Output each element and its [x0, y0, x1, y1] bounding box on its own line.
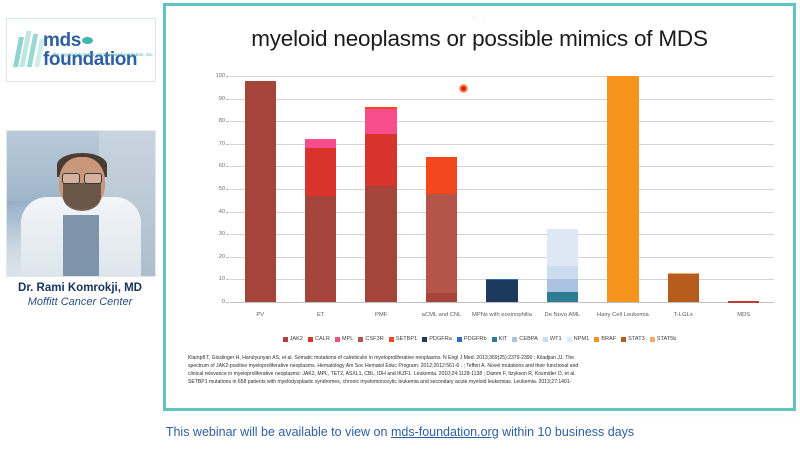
- x-axis-label: T-LGLs: [653, 312, 713, 319]
- stacked-bar[interactable]: [668, 221, 699, 302]
- left-rail: mdsfoundation the myelodysplastic syndro…: [0, 0, 160, 450]
- footer-suffix: within 10 business days: [499, 425, 635, 439]
- stacked-bar[interactable]: [607, 76, 638, 302]
- legend-swatch: [621, 337, 626, 342]
- mds-foundation-logo: mdsfoundation the myelodysplastic syndro…: [6, 18, 156, 82]
- y-axis-tick-label: 70: [219, 141, 225, 147]
- bar-segment-jak2[interactable]: [365, 186, 396, 302]
- x-axis-label: De Novo AML: [532, 312, 592, 319]
- bar-segment-cebpa[interactable]: [547, 279, 578, 292]
- reference-line: clinical relevance in myeloproliferative…: [188, 370, 779, 378]
- slide-title: myeloid neoplasms or possible mimics of …: [166, 26, 793, 52]
- photo-beard: [63, 183, 101, 211]
- y-axis-tick: [226, 76, 229, 77]
- bar-group[interactable]: [351, 76, 411, 302]
- bar-segment-stat3[interactable]: [668, 274, 699, 302]
- legend-label: BRAF: [601, 336, 616, 342]
- chart-bars: [230, 76, 774, 302]
- reference-citations: Klampfl T, Gisslinger H, Harutyunyan AS,…: [188, 354, 779, 386]
- reference-line: Klampfl T, Gisslinger H, Harutyunyan AS,…: [188, 354, 779, 362]
- legend-swatch: [567, 337, 572, 342]
- stacked-bar[interactable]: [547, 173, 578, 302]
- bar-segment-wt1[interactable]: [547, 266, 578, 279]
- legend-item-setbp1[interactable]: SETBP1: [389, 336, 417, 342]
- bar-group[interactable]: [593, 76, 653, 302]
- chart-legend: JAK2CALRMPLCSF3RSETBP1PDGFRaPDGFRbKITCEB…: [166, 336, 793, 342]
- bar-group[interactable]: [411, 76, 471, 302]
- bar-group[interactable]: [230, 76, 290, 302]
- legend-label: CALR: [315, 336, 330, 342]
- bar-segment-jak2[interactable]: [245, 81, 276, 302]
- legend-label: SETBP1: [396, 336, 417, 342]
- y-axis-tick: [226, 257, 229, 258]
- legend-swatch: [512, 337, 517, 342]
- x-axis-label: Hairy Cell Leukemia: [593, 312, 653, 319]
- footer-link[interactable]: mds-foundation.org: [391, 425, 499, 439]
- legend-label: MPL: [342, 336, 354, 342]
- legend-swatch: [389, 337, 394, 342]
- legend-label: JAK2: [290, 336, 303, 342]
- mutation-frequency-chart: 0102030405060708090100 PVETPMFaCML and C…: [200, 68, 778, 318]
- legend-swatch: [457, 337, 462, 342]
- slide-title-overflow: - .: [166, 12, 793, 22]
- legend-label: CEBPA: [519, 336, 538, 342]
- legend-item-mpl[interactable]: MPL: [335, 336, 354, 342]
- y-axis-tick: [226, 234, 229, 235]
- logo-tagline: the myelodysplastic syndromes foundation…: [53, 52, 154, 57]
- stacked-bar[interactable]: [426, 121, 457, 302]
- stacked-bar[interactable]: [365, 92, 396, 302]
- photo-glasses-icon: [62, 173, 102, 182]
- y-axis-tick-label: 60: [219, 163, 225, 169]
- legend-label: PDGFRb: [464, 336, 487, 342]
- y-axis-tick: [226, 166, 229, 167]
- y-axis-tick: [226, 121, 229, 122]
- y-axis-tick-label: 40: [219, 209, 225, 215]
- stacked-bar[interactable]: [486, 230, 517, 302]
- x-axis-label: MPNs with eosinophilia: [472, 312, 532, 319]
- y-axis-tick: [226, 99, 229, 100]
- bar-segment-csf3r[interactable]: [426, 194, 457, 293]
- slide-screenshot: mdsfoundation the myelodysplastic syndro…: [0, 0, 800, 450]
- legend-swatch: [358, 337, 363, 342]
- bar-segment-kit[interactable]: [547, 292, 578, 302]
- bar-segment-npm1[interactable]: [547, 229, 578, 266]
- chart-plot-area: 0102030405060708090100: [230, 76, 774, 302]
- x-axis-label: PMF: [351, 312, 411, 319]
- bar-group[interactable]: [653, 76, 713, 302]
- legend-item-calr[interactable]: CALR: [308, 336, 330, 342]
- reference-line: spectrum of JAK2-positive myeloprolifera…: [188, 362, 779, 370]
- logo-word-mds: mds: [43, 30, 81, 51]
- y-axis-tick-label: 90: [219, 96, 225, 102]
- stacked-bar[interactable]: [728, 287, 759, 302]
- y-axis-tick-label: 100: [216, 73, 225, 79]
- legend-item-braf[interactable]: BRAF: [594, 336, 616, 342]
- legend-swatch: [335, 337, 340, 342]
- presentation-slide: - . myeloid neoplasms or possible mimics…: [163, 3, 796, 411]
- legend-item-jak2[interactable]: JAK2: [283, 336, 303, 342]
- speaker-affiliation: Moffitt Cancer Center: [0, 296, 160, 308]
- logo-bars-icon: [15, 31, 45, 67]
- legend-swatch: [650, 337, 655, 342]
- legend-item-npm1[interactable]: NPM1: [567, 336, 590, 342]
- legend-item-wt1[interactable]: WT1: [543, 336, 562, 342]
- y-axis-tick-label: 30: [219, 231, 225, 237]
- bar-segment-mpl[interactable]: [365, 109, 396, 134]
- x-axis-label: ET: [290, 312, 350, 319]
- bar-group[interactable]: [472, 76, 532, 302]
- legend-label: CSF3R: [365, 336, 383, 342]
- legend-label: STAT3: [628, 336, 645, 342]
- bar-segment-calr[interactable]: [305, 148, 336, 196]
- logo-dot-icon: [82, 37, 93, 44]
- bar-group[interactable]: [714, 76, 774, 302]
- legend-label: KIT: [499, 336, 508, 342]
- y-axis-tick-label: 20: [219, 254, 225, 260]
- y-axis-tick: [226, 279, 229, 280]
- legend-label: STAT5b: [657, 336, 677, 342]
- stacked-bar[interactable]: [305, 110, 336, 302]
- legend-swatch: [283, 337, 288, 342]
- bar-group[interactable]: [532, 76, 592, 302]
- bar-segment-jak2[interactable]: [305, 196, 336, 302]
- legend-swatch: [308, 337, 313, 342]
- bar-segment-braf[interactable]: [607, 76, 638, 302]
- legend-item-kit[interactable]: KIT: [492, 336, 508, 342]
- legend-swatch: [422, 337, 427, 342]
- footer-message: This webinar will be available to view o…: [0, 425, 800, 439]
- y-axis-tick-label: 0: [222, 299, 225, 305]
- legend-item-csf3r[interactable]: CSF3R: [358, 336, 383, 342]
- y-axis-tick: [226, 144, 229, 145]
- bar-segment-calr[interactable]: [365, 134, 396, 187]
- gridline: [230, 302, 774, 303]
- y-axis-tick: [226, 189, 229, 190]
- logo-wordmark: mdsfoundation: [43, 31, 149, 69]
- y-axis-tick-label: 50: [219, 186, 225, 192]
- legend-item-pdgfrb[interactable]: PDGFRb: [457, 336, 487, 342]
- stacked-bar[interactable]: [245, 78, 276, 302]
- photo-shirt: [63, 215, 99, 276]
- bar-group[interactable]: [290, 76, 350, 302]
- x-axis-label: PV: [230, 312, 290, 319]
- footer-prefix: This webinar will be available to view o…: [166, 425, 391, 439]
- y-axis-tick-label: 80: [219, 118, 225, 124]
- x-axis-label: aCML and CNL: [411, 312, 471, 319]
- legend-swatch: [543, 337, 548, 342]
- bar-segment-pdgfra[interactable]: [486, 280, 517, 302]
- legend-item-pdgfra[interactable]: PDGFRa: [422, 336, 452, 342]
- y-axis-tick-label: 10: [219, 276, 225, 282]
- legend-item-stat3[interactable]: STAT3: [621, 336, 645, 342]
- speaker-video-thumbnail: [6, 130, 156, 277]
- legend-item-cebpa[interactable]: CEBPA: [512, 336, 538, 342]
- legend-label: PDGFRa: [429, 336, 452, 342]
- chart-x-axis-labels: PVETPMFaCML and CNLMPNs with eosinophili…: [230, 312, 774, 319]
- legend-label: WT1: [550, 336, 562, 342]
- y-axis-tick: [226, 302, 229, 303]
- speaker-name: Dr. Rami Komrokji, MD: [0, 282, 160, 294]
- bar-segment-mpl[interactable]: [305, 139, 336, 149]
- x-axis-label: MDS: [714, 312, 774, 319]
- legend-swatch: [492, 337, 497, 342]
- bar-segment-jak2[interactable]: [426, 293, 457, 302]
- legend-label: NPM1: [574, 336, 590, 342]
- bar-segment-setbp1[interactable]: [426, 157, 457, 193]
- reference-line: SETBP1 mutations in 658 patients with my…: [188, 378, 779, 386]
- y-axis-tick: [226, 212, 229, 213]
- legend-item-stat5b[interactable]: STAT5b: [650, 336, 677, 342]
- laser-pointer-marker-icon: [459, 84, 468, 93]
- legend-swatch: [594, 337, 599, 342]
